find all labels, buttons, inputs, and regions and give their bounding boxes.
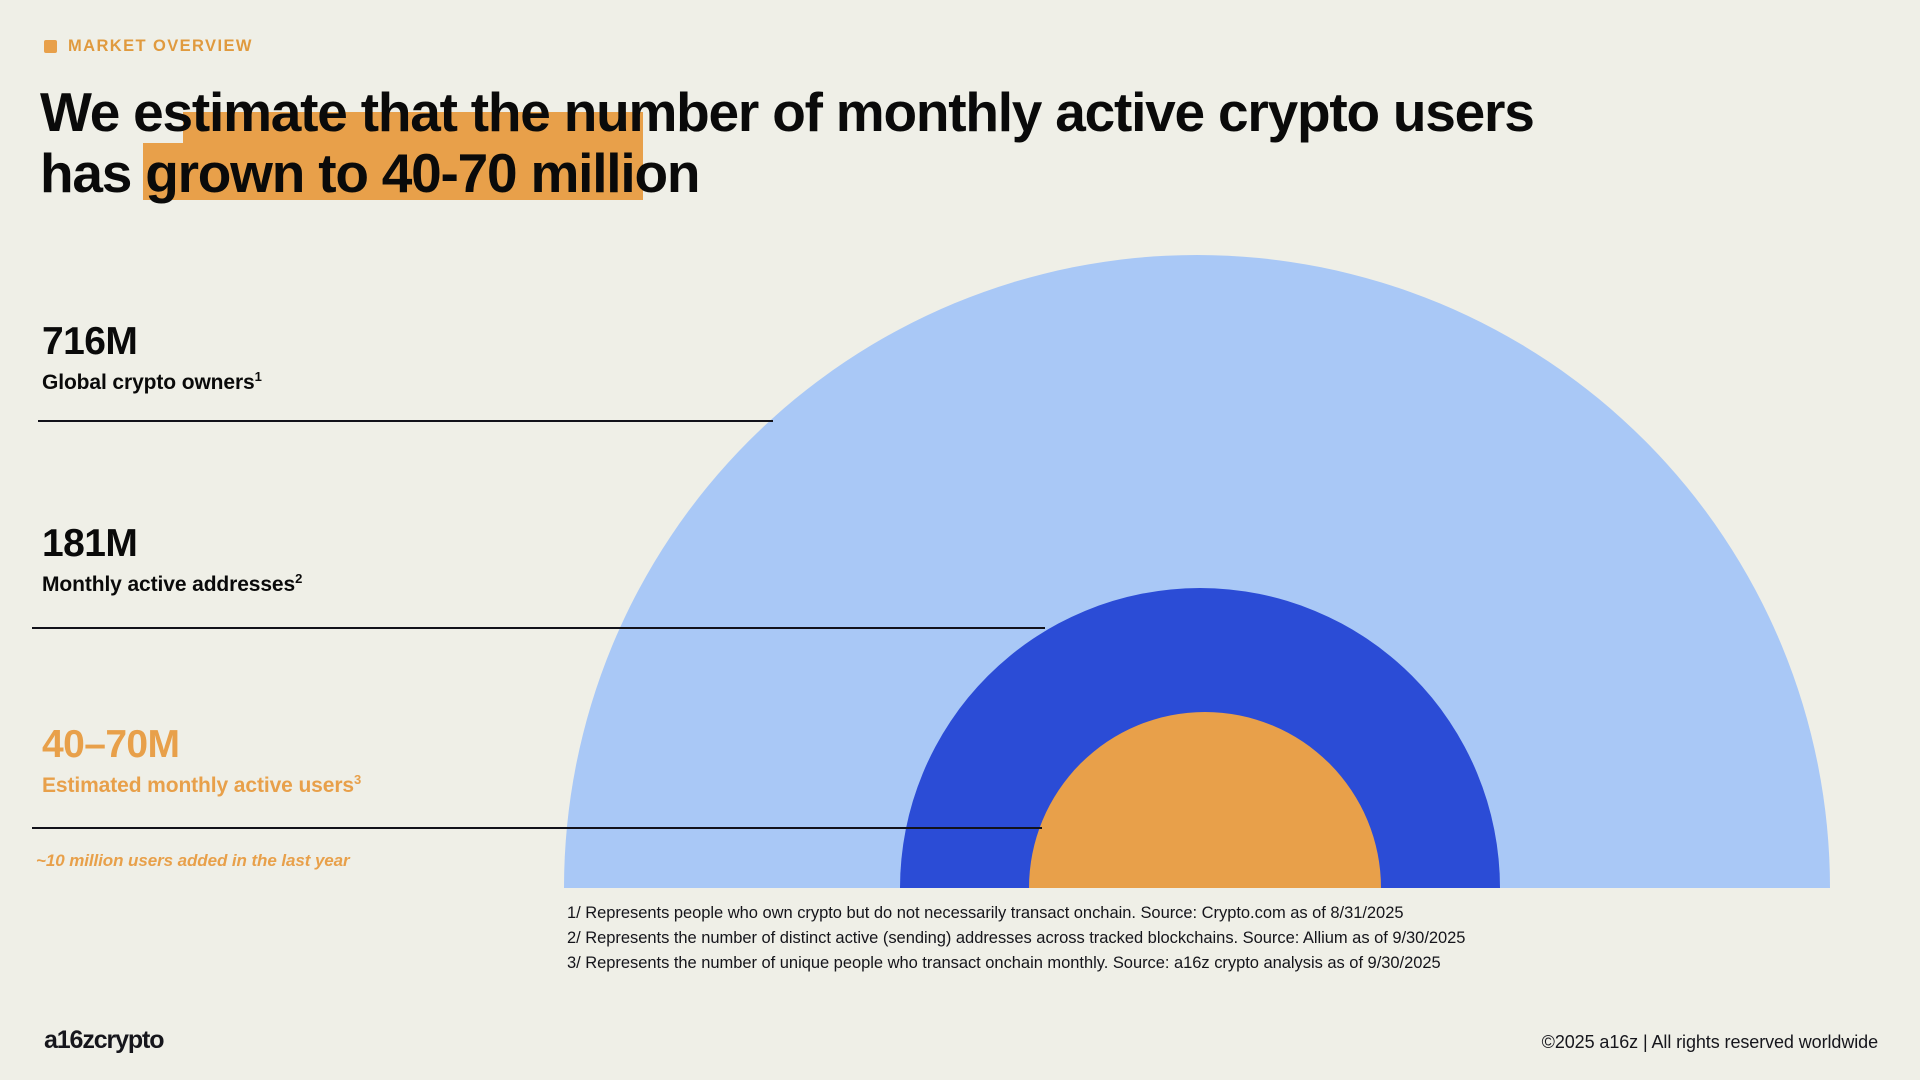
footnote-marker: 1 (255, 369, 262, 384)
metric-value: 40–70M (42, 725, 361, 766)
metric-block-global-crypto-owners: 716M Global crypto owners1 (42, 322, 262, 395)
copyright-text: ©2025 a16z | All rights reserved worldwi… (1542, 1033, 1878, 1051)
metric-note: ~10 million users added in the last year (36, 851, 350, 871)
slide-canvas: MARKET OVERVIEW We estimate that the num… (0, 0, 1920, 1080)
leader-line-monthly-active-addresses (32, 627, 1045, 629)
headline-line-1-text: We estimate that the number of monthly a… (40, 81, 1534, 143)
metric-description-text: Global crypto owners (42, 371, 255, 394)
headline-line-2-prefix: has (40, 142, 145, 204)
footnote-3: 3/ Represents the number of unique peopl… (567, 951, 1465, 976)
metric-description: Global crypto owners1 (42, 370, 262, 395)
headline-highlight-text: grown to 40-70 million (145, 142, 699, 204)
metric-value: 181M (42, 524, 302, 565)
footnote-marker: 2 (295, 571, 302, 586)
metric-block-estimated-monthly-active-users: 40–70M Estimated monthly active users3 (42, 725, 361, 798)
a16zcrypto-logo: a16zcrypto (44, 1028, 163, 1053)
metric-description: Estimated monthly active users3 (42, 773, 361, 798)
footnote-1: 1/ Represents people who own crypto but … (567, 901, 1465, 926)
footnote-2: 2/ Represents the number of distinct act… (567, 926, 1465, 951)
metric-description-text: Monthly active addresses (42, 573, 295, 596)
leader-line-global-crypto-owners (38, 420, 773, 422)
metric-block-monthly-active-addresses: 181M Monthly active addresses2 (42, 524, 302, 597)
metric-description-text: Estimated monthly active users (42, 774, 354, 797)
metric-description: Monthly active addresses2 (42, 572, 302, 597)
footnote-marker: 3 (354, 772, 361, 787)
semicircle-estimated-monthly-active-users (1029, 712, 1381, 1064)
headline-line-1: We estimate that the number of monthly a… (40, 82, 1680, 143)
footnotes: 1/ Represents people who own crypto but … (567, 901, 1465, 976)
leader-line-estimated-monthly-active-users (32, 827, 1042, 829)
metric-value: 716M (42, 322, 262, 363)
